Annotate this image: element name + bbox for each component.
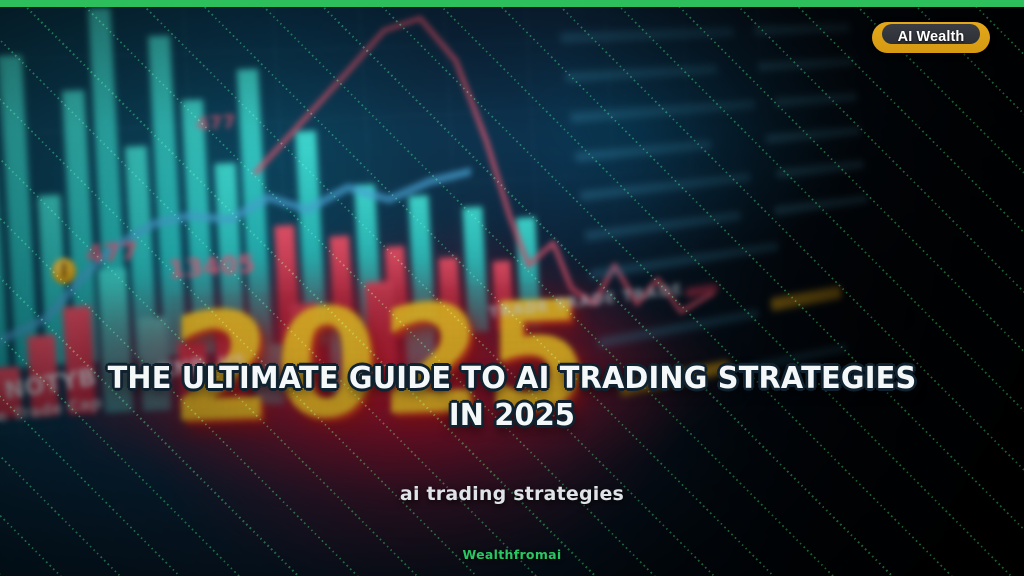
banner-canvas: 2025 477 477 13405 NOTYB e Trade Cap TRA… (0, 0, 1024, 576)
page-title-line-1: The Ultimate Guide to AI Trading Strateg… (108, 361, 917, 396)
subtitle: ai trading strategies (0, 483, 1024, 505)
footer-brand: Wealthfromai (0, 547, 1024, 562)
top-accent-bar (0, 0, 1024, 7)
headline-block: The Ultimate Guide to AI Trading Strateg… (0, 360, 1024, 434)
brand-badge[interactable]: AI Wealth (872, 22, 990, 53)
page-title: The Ultimate Guide to AI Trading Strateg… (59, 360, 965, 434)
brand-badge-label: AI Wealth (872, 22, 990, 53)
page-title-line-2: in 2025 (449, 398, 575, 433)
